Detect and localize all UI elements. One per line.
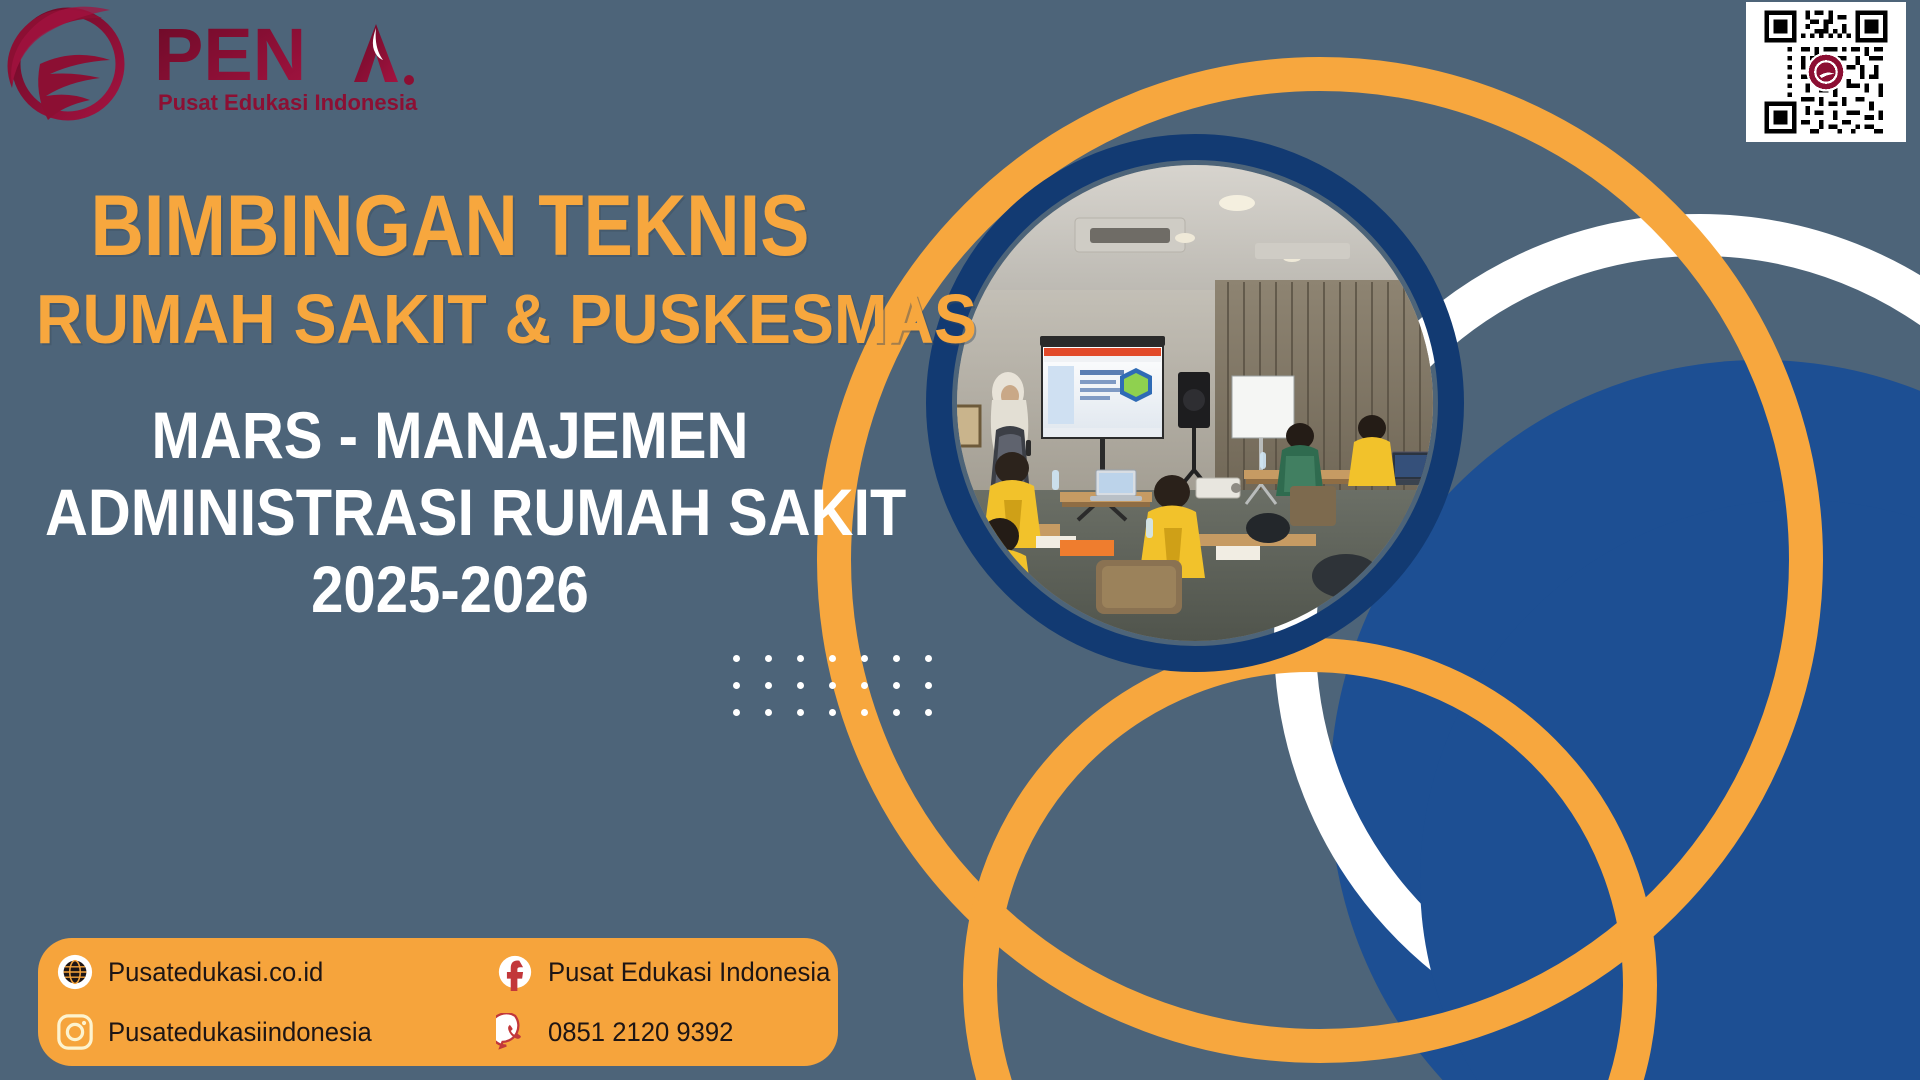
- headline-line-2: RUMAH SAKIT & PUSKESMAS: [36, 286, 864, 353]
- dot: [861, 709, 868, 716]
- dot: [765, 655, 772, 662]
- dot-grid-decoration: [733, 655, 957, 736]
- headline-year: 2025-2026: [54, 558, 846, 621]
- dot: [861, 682, 868, 689]
- pena-wordmark: PEN: [154, 13, 414, 96]
- dot: [797, 682, 804, 689]
- dot: [861, 655, 868, 662]
- poster-canvas: PEN Pusat Edukasi Indonesia: [0, 0, 1920, 1080]
- contact-instagram[interactable]: Pusatedukasiindonesia: [56, 1013, 496, 1051]
- contact-website-label: Pusatedukasi.co.id: [108, 957, 323, 988]
- contact-facebook-label: Pusat Edukasi Indonesia: [548, 957, 830, 988]
- qr-code[interactable]: [1746, 2, 1906, 142]
- dot: [765, 709, 772, 716]
- dot: [829, 655, 836, 662]
- contact-whatsapp[interactable]: 0851 2120 9392: [496, 1013, 856, 1051]
- qr-code-svg: [1750, 6, 1902, 138]
- headline-line-3: MARS - MANAJEMEN: [54, 404, 846, 467]
- dot: [829, 682, 836, 689]
- dot: [925, 655, 932, 662]
- instagram-icon: [56, 1013, 94, 1051]
- contact-instagram-label: Pusatedukasiindonesia: [108, 1017, 372, 1048]
- dot: [733, 655, 740, 662]
- dot: [797, 709, 804, 716]
- headline-block: BIMBINGAN TEKNIS RUMAH SAKIT & PUSKESMAS…: [0, 186, 900, 620]
- globe-icon: [56, 953, 94, 991]
- whatsapp-icon: [496, 1013, 534, 1051]
- svg-text:PEN: PEN: [154, 13, 306, 96]
- dot: [893, 655, 900, 662]
- dot: [925, 709, 932, 716]
- pena-flame-circle-logo: [8, 7, 121, 120]
- brand-logo[interactable]: PEN Pusat Edukasi Indonesia: [6, 2, 436, 137]
- dot: [733, 709, 740, 716]
- dot: [733, 682, 740, 689]
- contact-bar: Pusatedukasi.co.id Pusat Edukasi Indones…: [38, 938, 838, 1066]
- contact-website[interactable]: Pusatedukasi.co.id: [56, 953, 496, 991]
- headline-line-4: ADMINISTRASI RUMAH SAKIT: [45, 481, 855, 544]
- pena-logo-svg: PEN Pusat Edukasi Indonesia: [6, 2, 436, 137]
- contact-facebook[interactable]: Pusat Edukasi Indonesia: [496, 953, 856, 991]
- contact-whatsapp-label: 0851 2120 9392: [548, 1017, 733, 1048]
- dot: [797, 655, 804, 662]
- logo-tagline: Pusat Edukasi Indonesia: [158, 90, 418, 115]
- headline-line-1: BIMBINGAN TEKNIS: [63, 186, 837, 268]
- dot: [829, 709, 836, 716]
- dot: [893, 709, 900, 716]
- dot: [925, 682, 932, 689]
- dot: [765, 682, 772, 689]
- dot: [893, 682, 900, 689]
- facebook-icon: [496, 953, 534, 991]
